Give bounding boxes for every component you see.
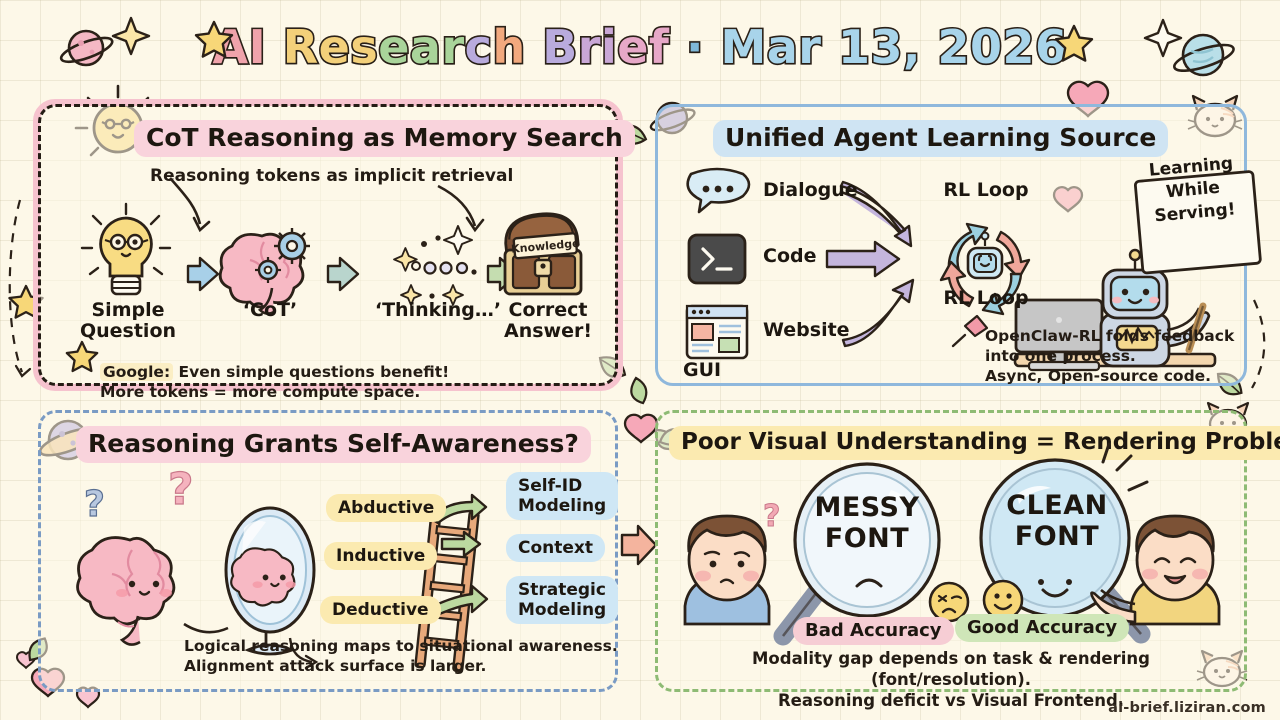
terminal-icon [689,235,745,283]
panel3-right-chip-1[interactable]: Context [506,534,605,562]
star-icon [67,342,97,371]
guide-arrow-icon [1252,300,1264,388]
heart-icon [625,415,657,442]
panel2-source-label-1: Code [763,246,903,267]
sparkles-icon [394,226,477,305]
panel3-left-chip-0[interactable]: Abductive [326,494,446,522]
panel3-left-chip-2[interactable]: Deductive [320,596,441,624]
panel3-right-chip-0[interactable]: Self-ID Modeling [506,472,618,520]
pushpin-icon [953,316,987,346]
lightbulb-icon [82,204,170,294]
connector-arrow-icon [622,526,656,564]
panel2-source-sublabel-gui: GUI [683,360,773,381]
question-mark-icon: ? [168,464,194,515]
panel-visual-understanding[interactable]: Poor Visual Understanding = Rendering Pr… [655,410,1247,692]
panel-cot-reasoning[interactable]: CoT Reasoning as Memory Search Reasoning… [38,104,618,386]
footer-watermark: ai-brief.liziran.com [1108,700,1266,716]
panel-unified-agent[interactable]: Unified Agent Learning Source [655,104,1247,386]
panel3-left-chip-1[interactable]: Inductive [324,542,437,570]
poster-canvas: AI Research Brief · Mar 13, 2026 [0,0,1280,720]
panel2-sign-text: Learning While Serving! [1132,151,1254,230]
flow-arrow-2-icon [328,258,358,290]
treasure-chest-icon: Knowledge [503,210,581,294]
question-mark-icon: ? [84,484,105,525]
guide-arrow-icon [10,200,22,372]
flow-arrow-1-icon [188,258,218,290]
panel1-flow-label-0: Simple Question [78,300,178,342]
panel4-lens-left-text: MESSY FONT [805,492,929,554]
panel3-right-chip-2[interactable]: Strategic Modeling [506,576,618,624]
heart-icon [17,652,35,668]
leaf-icon [627,376,650,406]
panel4-badge-right[interactable]: Good Accuracy [955,614,1129,642]
panel1-footnote: Google: Even simple questions benefit! M… [100,342,449,402]
panel1-footnote-lead: Google: [100,363,173,381]
panel2-source-label-0: Dialogue [763,180,903,201]
panel4-badge-left[interactable]: Bad Accuracy [793,617,954,645]
page-title: AI Research Brief · Mar 13, 2026 [0,14,1280,86]
panel1-flow-label-3: Correct Answer! [493,300,603,342]
panel1-flow-label-2: ‘Thinking…’ [368,300,508,321]
panel2-rl-loop-bottom: RL Loop [933,288,1039,309]
question-mark-icon: ? [763,499,780,534]
kid-confused-icon: ? [685,499,780,624]
panel-self-awareness[interactable]: Reasoning Grants Self-Awareness? ? ? [38,410,618,692]
panel1-flow-label-1: ‘CoT’ [220,300,320,321]
panel2-footnote: OpenClaw-RL folds feedback into one proc… [985,326,1234,386]
browser-window-icon [687,306,747,358]
panel2-rl-loop-top: RL Loop [933,180,1039,201]
page-title-text: AI Research Brief · Mar 13, 2026 [212,14,1067,80]
panel4-lens-right-text: CLEAN FONT [995,490,1119,552]
panel2-source-label-2: Website [763,320,903,341]
brain-icon [78,538,174,645]
panel3-footnote: Logical reasoning maps to situational aw… [184,636,618,676]
mirror-icon [226,508,314,654]
speech-bubble-icon [688,169,749,212]
